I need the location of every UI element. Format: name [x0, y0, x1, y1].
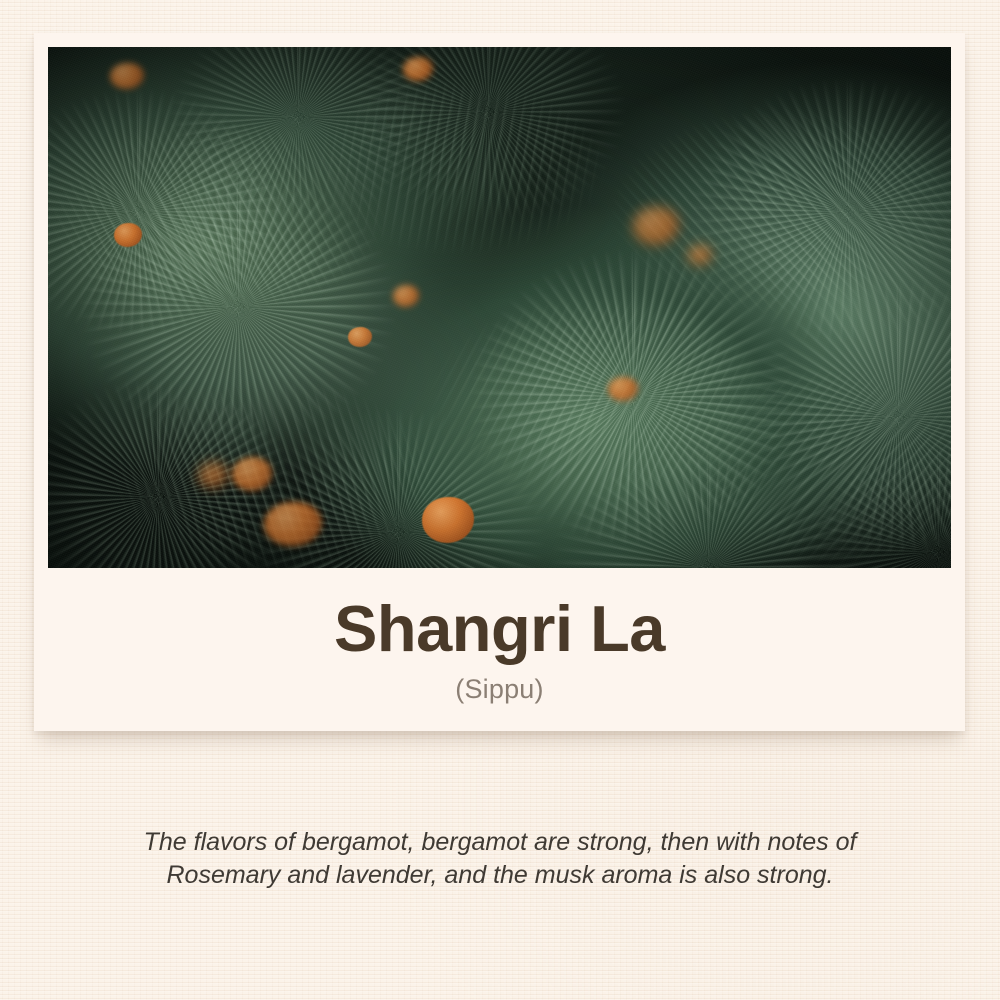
description-line-2: Rosemary and lavender, and the musk arom… [166, 861, 833, 889]
card-text-block: Shangri La (Sippu) [34, 568, 965, 705]
description-text: The flavors of bergamot, bergamot are st… [90, 826, 910, 892]
description-line-1: The flavors of bergamot, bergamot are st… [144, 828, 857, 856]
conifer-needles-macro-photo [48, 47, 951, 568]
photo-film-grain [48, 47, 951, 568]
product-card[interactable]: Shangri La (Sippu) [34, 33, 965, 731]
page-root: Shangri La (Sippu) The flavors of bergam… [0, 0, 1000, 1000]
page-title: Shangri La [34, 568, 965, 662]
card-subtitle: (Sippu) [34, 662, 965, 705]
card-photo-frame [48, 47, 951, 568]
